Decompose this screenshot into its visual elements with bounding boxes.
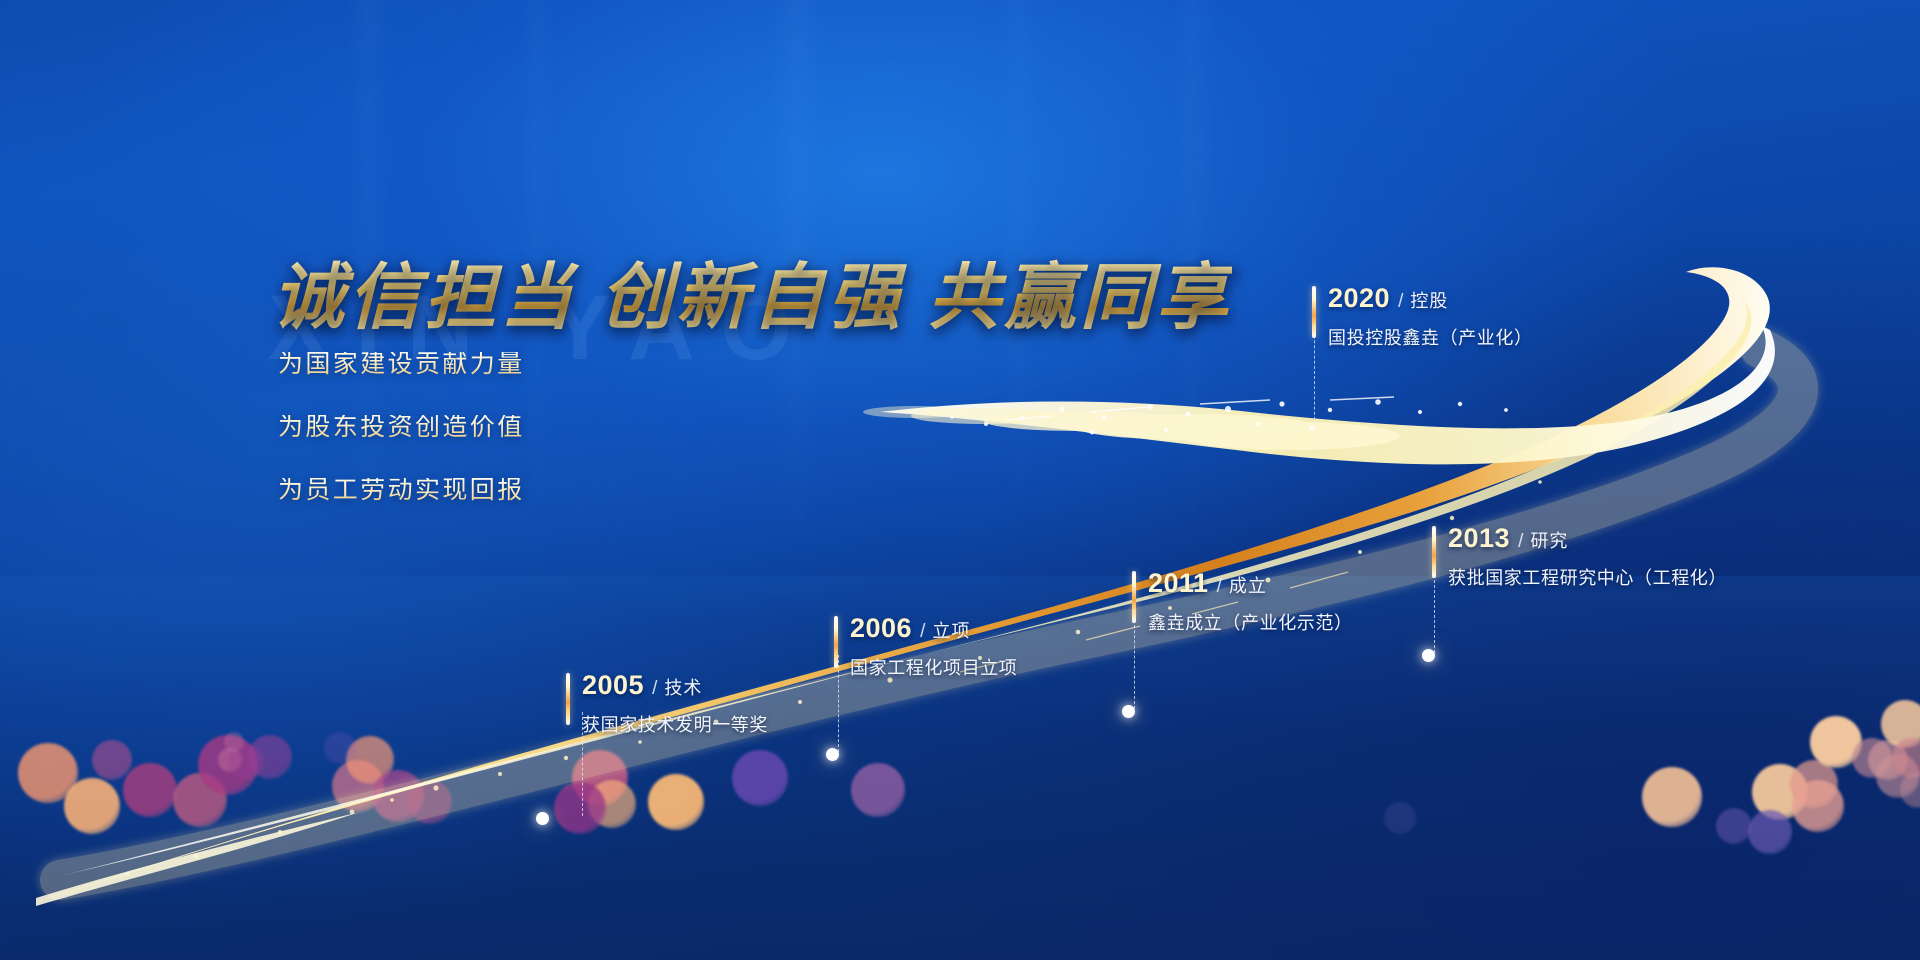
bokeh-light-left-12 — [408, 780, 452, 824]
milestone-description: 获国家技术发明一等奖 — [582, 711, 768, 737]
bokeh-light-left-11 — [372, 770, 424, 822]
milestone-2020[interactable]: 2020 / 控股 国投控股鑫垚（产业化） — [1328, 285, 1533, 350]
milestone-dot-2005[interactable] — [536, 812, 549, 825]
milestone-2011[interactable]: 2011 / 成立 鑫垚成立（产业化示范） — [1148, 570, 1353, 635]
bokeh-light-left-20 — [851, 763, 905, 817]
bokeh-light-right-9 — [1876, 754, 1920, 798]
milestone-year: 2020 — [1328, 285, 1390, 312]
milestone-heading: 2011 / 成立 — [1148, 570, 1353, 597]
bokeh-light-left-9 — [332, 760, 384, 812]
milestone-2005[interactable]: 2005 / 技术 获国家技术发明一等奖 — [582, 672, 768, 737]
milestone-description: 国投控股鑫垚（产业化） — [1328, 324, 1533, 350]
milestone-heading: 2013 / 研究 — [1448, 525, 1727, 552]
milestone-tag: 控股 — [1410, 292, 1448, 310]
bokeh-light-right-1 — [1752, 764, 1808, 820]
bokeh-light-left-18 — [648, 774, 704, 830]
milestone-connector-2011 — [1134, 610, 1135, 709]
bokeh-light-right-3 — [1792, 780, 1844, 832]
milestone-tag: 立项 — [932, 622, 970, 640]
bokeh-light-left-13 — [224, 732, 244, 752]
milestone-2013[interactable]: 2013 / 研究 获批国家工程研究中心（工程化） — [1448, 525, 1727, 590]
slogan-item-3: 为员工劳动实现回报 — [278, 478, 525, 503]
bokeh-light-left-2 — [92, 740, 132, 780]
milestone-separator: / — [1217, 577, 1222, 596]
milestone-year: 2006 — [850, 615, 912, 642]
bokeh-light-right-10 — [1881, 700, 1920, 748]
milestone-2006[interactable]: 2006 / 立项 国家工程化项目立项 — [850, 615, 1017, 680]
bokeh-light-left-7 — [228, 744, 264, 780]
milestone-heading: 2020 / 控股 — [1328, 285, 1533, 312]
bokeh-light-right-12 — [1900, 772, 1920, 808]
bokeh-light-left-1 — [64, 778, 120, 834]
bokeh-light-left-0 — [18, 743, 78, 803]
milestone-dot-2013[interactable] — [1422, 649, 1435, 662]
milestone-year: 2005 — [582, 672, 644, 699]
bokeh-light-left-5 — [198, 735, 258, 795]
bokeh-light-left-8 — [248, 735, 292, 779]
bokeh-light-left-15 — [572, 750, 628, 806]
milestone-year: 2013 — [1448, 525, 1510, 552]
milestone-accent-bar — [566, 673, 570, 725]
bokeh-light-left-10 — [346, 736, 394, 784]
milestone-dot-2006[interactable] — [826, 748, 839, 761]
bokeh-light-right-6 — [1810, 716, 1862, 768]
bokeh-light-right-7 — [1852, 738, 1892, 778]
milestone-separator: / — [652, 679, 657, 698]
bokeh-light-left-14 — [324, 732, 356, 764]
milestone-description: 获批国家工程研究中心（工程化） — [1448, 564, 1727, 590]
milestone-connector-2020 — [1314, 325, 1315, 425]
page-title: 诚信担当 创新自强 共赢同享 — [272, 238, 1232, 343]
bokeh-light-left-16 — [588, 780, 636, 828]
milestone-dot-2011[interactable] — [1122, 705, 1135, 718]
bokeh-light-right-0 — [1642, 767, 1702, 827]
milestone-connector-2013 — [1434, 565, 1435, 653]
banner-canvas: XIN YAO 诚信担当 创新自强 共赢同享 为国家建设贡献力量 为股东投资创造… — [0, 0, 1920, 960]
bokeh-light-left-6 — [218, 748, 242, 772]
milestone-description: 鑫垚成立（产业化示范） — [1148, 609, 1353, 635]
milestone-connector-2005 — [582, 712, 583, 816]
slogan-item-2: 为股东投资创造价值 — [278, 415, 525, 440]
bokeh-light-right-5 — [1748, 810, 1792, 854]
milestone-connector-2006 — [838, 655, 839, 752]
milestone-year: 2011 — [1148, 570, 1209, 597]
slogan-list: 为国家建设贡献力量 为股东投资创造价值 为员工劳动实现回报 — [278, 352, 525, 541]
bokeh-light-right-4 — [1716, 808, 1752, 844]
bokeh-light-right-8 — [1868, 740, 1908, 780]
milestone-separator: / — [1398, 292, 1403, 311]
slogan-item-1: 为国家建设贡献力量 — [278, 352, 525, 377]
bokeh-light-left-17 — [554, 782, 606, 834]
bokeh-light-right-2 — [1790, 760, 1838, 808]
milestone-tag: 研究 — [1530, 532, 1568, 550]
bokeh-light-left-3 — [123, 763, 177, 817]
bokeh-light-left-4 — [173, 773, 227, 827]
bokeh-light-right-13 — [1384, 802, 1416, 834]
milestone-heading: 2006 / 立项 — [850, 615, 1017, 642]
milestone-heading: 2005 / 技术 — [582, 672, 768, 699]
bokeh-light-left-19 — [732, 750, 788, 806]
milestone-tag: 成立 — [1229, 577, 1267, 595]
milestone-tag: 技术 — [664, 679, 702, 697]
milestone-description: 国家工程化项目立项 — [850, 654, 1017, 680]
bokeh-light-right-11 — [1892, 738, 1920, 778]
milestone-separator: / — [1518, 532, 1523, 551]
milestone-separator: / — [920, 622, 925, 641]
